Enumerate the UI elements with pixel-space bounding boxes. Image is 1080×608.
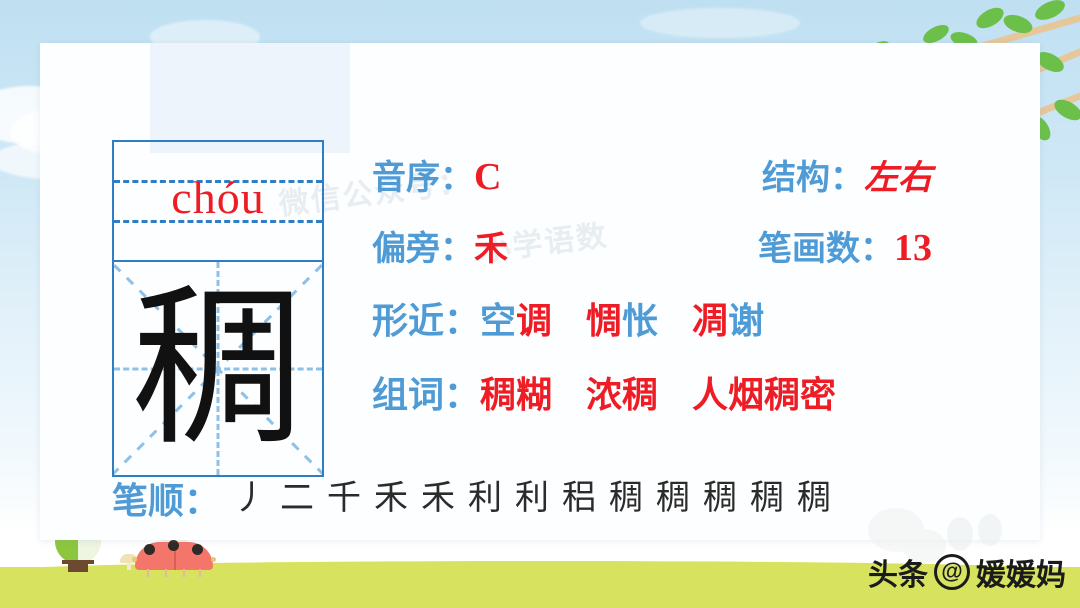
character-info-panel: 音序： C 结构： 左右 偏旁： 禾 笔画数： 13 形近： 空调惆怅凋谢 组词… xyxy=(372,150,1012,440)
character-grid: chóu 稠 xyxy=(112,140,324,477)
field-value: 禾 xyxy=(474,221,508,270)
field-label: 形近： xyxy=(372,292,480,344)
stroke-step: 稠 xyxy=(656,476,690,520)
stroke-step: 稆 xyxy=(562,476,596,520)
ladybug-icon xyxy=(135,536,213,570)
stroke-step: 稠 xyxy=(703,476,737,520)
field-value: C xyxy=(474,155,501,199)
similar-word-char: 惆 xyxy=(586,300,622,341)
info-row-zuci: 组词： 稠糊浓稠人烟稠密 xyxy=(372,366,1012,418)
field-value: 左右 xyxy=(864,150,932,199)
field-bihuashu: 笔画数： 13 xyxy=(758,221,932,270)
field-label: 笔画数： xyxy=(758,221,894,270)
stroke-step: 千 xyxy=(327,476,361,520)
stroke-order-section: 笔顺： 丿二千禾禾利利稆稠稠稠稠稠 xyxy=(112,472,831,524)
similar-word-char: 空 xyxy=(480,300,516,341)
stroke-step: 稠 xyxy=(750,476,784,520)
brand-handle: 媛媛妈 xyxy=(976,550,1066,594)
pinyin-text: chóu xyxy=(114,168,322,228)
field-value: 13 xyxy=(894,226,932,270)
similar-word: 空调 xyxy=(480,300,552,341)
field-pianpang: 偏旁： 禾 xyxy=(372,221,508,270)
field-jiegou: 结构： 左右 xyxy=(762,150,932,199)
card-tint-block xyxy=(150,43,350,153)
info-row-xingjin: 形近： 空调惆怅凋谢 xyxy=(372,292,1012,344)
field-label: 偏旁： xyxy=(372,221,474,270)
similar-word: 凋谢 xyxy=(692,300,764,341)
stroke-step: 利 xyxy=(515,476,549,520)
info-row-yinxu-jiegou: 音序： C 结构： 左右 xyxy=(372,150,932,199)
compound-words-list: 稠糊浓稠人烟稠密 xyxy=(480,366,870,418)
tianzige-box: 稠 xyxy=(112,260,324,477)
field-label: 结构： xyxy=(762,150,864,199)
at-sign-icon xyxy=(934,554,970,590)
main-character: 稠 xyxy=(114,279,322,459)
stroke-step: 稠 xyxy=(797,476,831,520)
brand-prefix: 头条 xyxy=(868,550,928,594)
stroke-step: 利 xyxy=(468,476,502,520)
field-label: 音序： xyxy=(372,150,474,199)
similar-word-char: 凋 xyxy=(692,300,728,341)
stroke-order-list: 丿二千禾禾利利稆稠稠稠稠稠 xyxy=(220,476,831,520)
field-yinxu: 音序： C xyxy=(372,150,501,199)
similar-word-char: 谢 xyxy=(728,300,764,341)
stroke-order-label: 笔顺： xyxy=(112,472,220,524)
similar-words-list: 空调惆怅凋谢 xyxy=(480,292,798,344)
field-label: 组词： xyxy=(372,366,480,418)
compound-word: 稠糊 xyxy=(480,374,552,415)
stroke-step: 丿 xyxy=(233,476,267,520)
similar-word-char: 怅 xyxy=(622,300,658,341)
stroke-step: 二 xyxy=(280,476,314,520)
similar-word: 惆怅 xyxy=(586,300,658,341)
stroke-step: 禾 xyxy=(374,476,408,520)
info-row-pianpang-bihuashu: 偏旁： 禾 笔画数： 13 xyxy=(372,221,932,270)
stroke-step: 禾 xyxy=(421,476,455,520)
brand-credit: 头条 媛媛妈 xyxy=(868,550,1066,594)
similar-word-char: 调 xyxy=(516,300,552,341)
pinyin-four-line-grid: chóu xyxy=(112,140,324,260)
stroke-step: 稠 xyxy=(609,476,643,520)
cloud-decoration xyxy=(640,8,800,38)
compound-word: 人烟稠密 xyxy=(692,374,836,415)
compound-word: 浓稠 xyxy=(586,374,658,415)
